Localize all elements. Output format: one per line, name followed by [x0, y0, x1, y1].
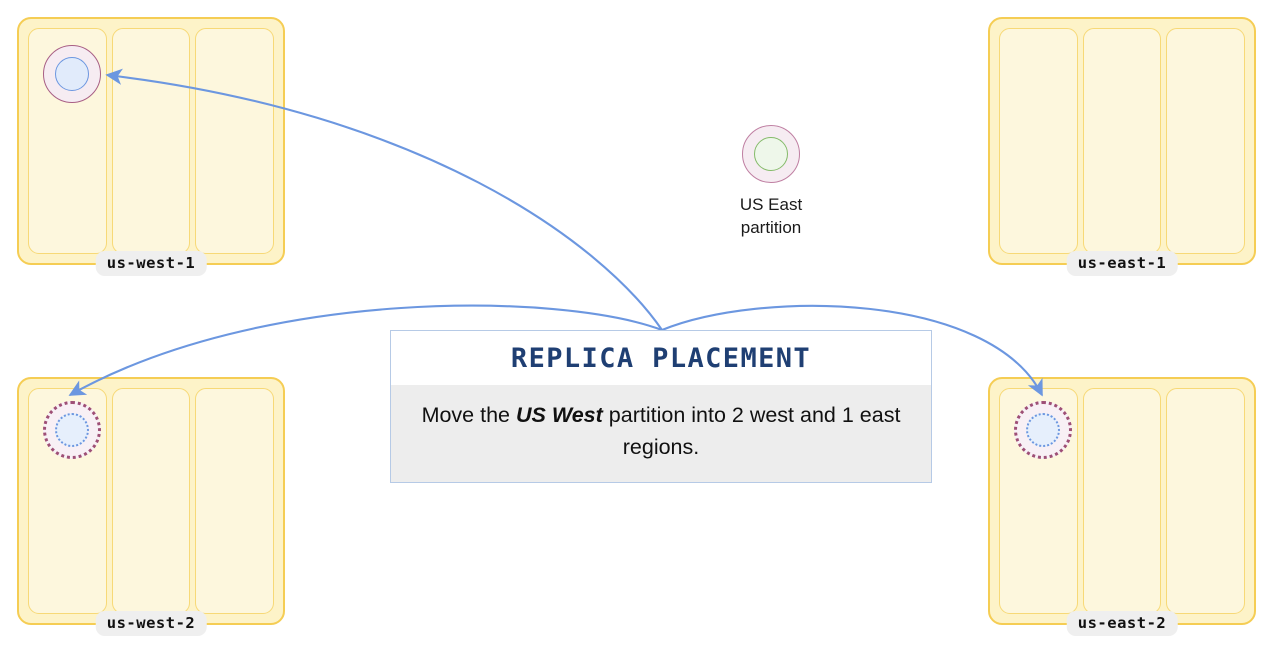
rack — [112, 28, 191, 254]
region-us-east-1[interactable]: us-east-1 — [988, 17, 1256, 265]
replica-core-icon — [55, 413, 89, 447]
callout-title: REPLICA PLACEMENT — [391, 331, 931, 385]
region-label-us-east-2: us-east-2 — [1067, 611, 1178, 636]
rack — [999, 28, 1078, 254]
rack — [1083, 388, 1162, 614]
replica-node-us-west-1[interactable] — [43, 45, 101, 103]
rack — [112, 388, 191, 614]
rack — [195, 388, 274, 614]
source-partition-node[interactable]: US East partition — [713, 125, 829, 239]
source-caption-line-1: US East — [740, 194, 802, 217]
region-label-us-east-1: us-east-1 — [1067, 251, 1178, 276]
callout-body-suffix: partition into 2 west and 1 east regions… — [603, 403, 901, 459]
rack — [1166, 28, 1245, 254]
rack — [1166, 388, 1245, 614]
source-core-icon — [754, 137, 788, 171]
replica-node-us-east-2[interactable] — [1014, 401, 1072, 459]
replica-node-us-west-2[interactable] — [43, 401, 101, 459]
region-label-us-west-2: us-west-2 — [96, 611, 207, 636]
source-partition-caption: US East partition — [740, 194, 802, 239]
callout-body-prefix: Move the — [422, 403, 516, 427]
region-label-us-west-1: us-west-1 — [96, 251, 207, 276]
diagram-canvas: us-west-1 us-east-1 us-west-2 us-east-2 — [0, 0, 1280, 658]
rack — [1083, 28, 1162, 254]
callout-body-emphasis: US West — [516, 403, 603, 427]
source-caption-line-2: partition — [740, 217, 802, 240]
replica-placement-callout: REPLICA PLACEMENT Move the US West parti… — [390, 330, 932, 483]
replica-core-icon — [55, 57, 89, 91]
source-partition-icon — [742, 125, 800, 183]
replica-core-icon — [1026, 413, 1060, 447]
rack — [195, 28, 274, 254]
callout-body: Move the US West partition into 2 west a… — [391, 385, 931, 482]
